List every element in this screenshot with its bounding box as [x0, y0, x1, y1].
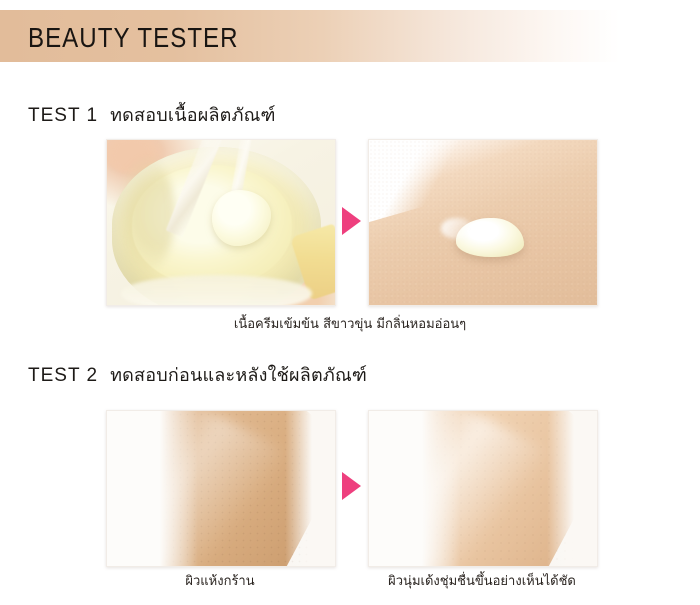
caption-arm-after: ผิวนุ่มเด้งชุ่มชื่นขึ้นอย่างเห็นได้ชัด — [368, 570, 596, 591]
arm-after-photo-inner — [369, 411, 597, 566]
section-heading-test2: TEST 2ทดสอบก่อนและหลังใช้ผลิตภัณฑ์ — [28, 360, 367, 389]
arrow-right-icon-test2 — [342, 472, 361, 500]
test2-label: TEST 2 — [28, 365, 98, 386]
test1-thai-heading: ทดสอบเนื้อผลิตภัณฑ์ — [110, 105, 276, 126]
arm-before-photo — [106, 410, 336, 567]
caption-test1: เนื้อครีมเข้มข้น สีขาวขุ่น มีกลิ่นหอมอ่อ… — [0, 313, 700, 334]
arm-after-backdrop-right — [547, 411, 597, 566]
arm-before-photo-inner — [107, 411, 335, 566]
cream-jar-photo — [106, 139, 336, 306]
caption-arm-before: ผิวแห้งกร้าน — [106, 570, 334, 591]
arm-before-backdrop-left — [107, 411, 198, 566]
test2-thai-heading: ทดสอบก่อนและหลังใช้ผลิตภัณฑ์ — [110, 365, 367, 386]
cream-on-skin-photo-inner — [369, 140, 597, 305]
page-title: BEAUTY TESTER — [28, 22, 239, 54]
arm-after-backdrop-left — [369, 411, 460, 566]
section-heading-test1: TEST 1ทดสอบเนื้อผลิตภัณฑ์ — [28, 100, 276, 129]
arm-after-photo — [368, 410, 598, 567]
jar-inner-shadow — [116, 157, 175, 273]
arm-before-backdrop-right — [285, 411, 335, 566]
arrow-right-icon-test1 — [342, 207, 361, 235]
cream-on-skin-photo — [368, 139, 598, 306]
test1-label: TEST 1 — [28, 105, 98, 126]
cream-jar-photo-inner — [107, 140, 335, 305]
jar-glass-bottom — [121, 275, 313, 305]
